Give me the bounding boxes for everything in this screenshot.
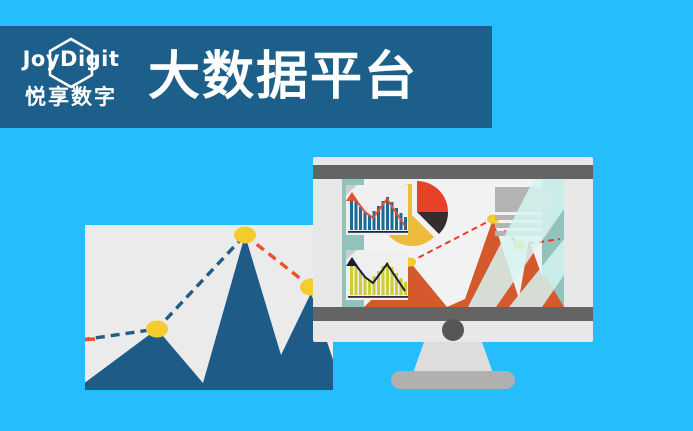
monitor-screen — [342, 179, 564, 307]
monitor-graphic — [313, 157, 593, 392]
mountain-shape — [85, 235, 333, 390]
area-mountain-chart — [85, 225, 333, 390]
power-button[interactable] — [442, 319, 464, 341]
monitor-base — [391, 371, 515, 389]
brand-wordmark: JoyDigit — [12, 49, 130, 70]
bar-line-card-yellow — [346, 250, 408, 300]
bar-line-card-blue — [346, 185, 408, 235]
monitor-bottom-bar — [313, 307, 593, 321]
desktop-monitor — [313, 157, 593, 392]
trend-line-lead-red — [85, 339, 95, 340]
brand-subtitle: 悦享数字 — [12, 87, 130, 108]
header-banner: JoyDigit 悦享数字 大数据平台 — [0, 26, 492, 128]
monitor-top-bar — [313, 165, 593, 179]
page-title: 大数据平台 — [148, 51, 418, 103]
monitor-stand — [413, 342, 493, 373]
poster-canvas: JoyDigit 悦享数字 大数据平台 — [0, 0, 693, 431]
left-chart-panel — [85, 225, 333, 390]
brand-logo: JoyDigit 悦享数字 — [12, 35, 130, 119]
